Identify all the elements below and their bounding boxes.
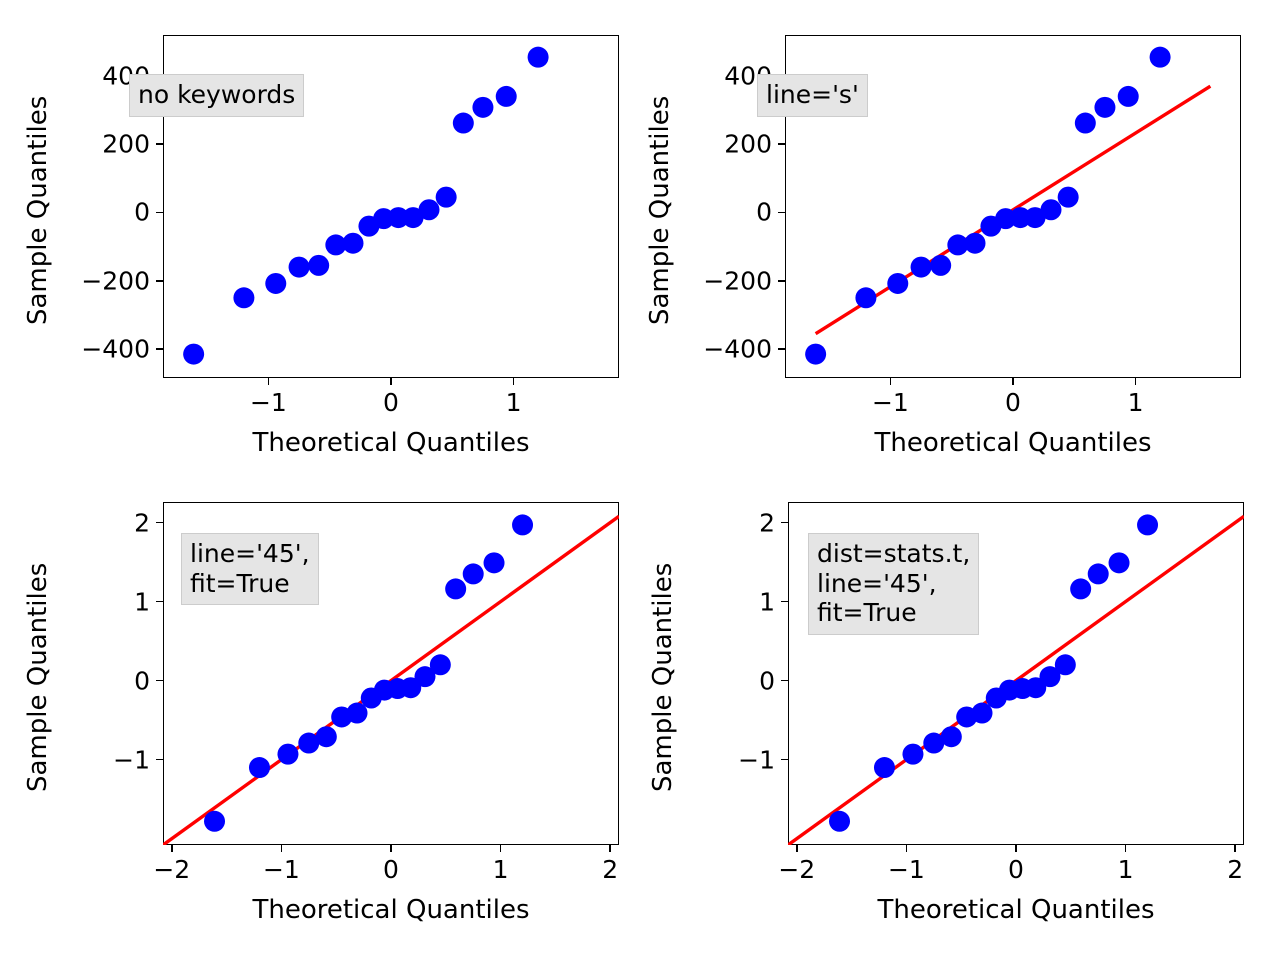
- y-tick-label: −1: [663, 747, 775, 772]
- y-tick-mark: [781, 680, 788, 682]
- x-axis-label: Theoretical Quantiles: [877, 895, 1154, 925]
- annotation-textbox: dist=stats.t, line='45', fit=True: [808, 533, 979, 635]
- data-point-marker: [1137, 514, 1158, 535]
- data-point-marker: [941, 726, 962, 747]
- x-tick-mark: [1234, 845, 1236, 852]
- data-point-marker: [1088, 563, 1109, 584]
- data-point-marker: [1109, 552, 1130, 573]
- x-tick-label: 0: [1008, 857, 1024, 882]
- x-tick-label: 1: [1118, 857, 1134, 882]
- plot-canvas: [0, 0, 1280, 960]
- data-point-marker: [1070, 578, 1091, 599]
- x-tick-label: −2: [778, 857, 815, 882]
- subplot-qqplot-dist-t-line45-fit: −1012−2−1012Theoretical QuantilesSample …: [0, 0, 1280, 960]
- y-tick-mark: [781, 522, 788, 524]
- x-tick-mark: [906, 845, 908, 852]
- y-tick-label: 0: [663, 668, 775, 693]
- data-point-marker: [1055, 654, 1076, 675]
- data-point-marker: [902, 744, 923, 765]
- y-tick-label: 1: [663, 589, 775, 614]
- x-tick-label: 2: [1227, 857, 1243, 882]
- y-tick-mark: [781, 759, 788, 761]
- x-tick-label: −1: [888, 857, 925, 882]
- data-point-marker: [874, 757, 895, 778]
- y-tick-label: 2: [663, 510, 775, 535]
- matplotlib-figure: −400−2000200400−101Theoretical Quantiles…: [0, 0, 1280, 960]
- y-tick-mark: [781, 601, 788, 603]
- y-axis-label: Sample Quantiles: [648, 562, 678, 791]
- data-point-marker: [829, 811, 850, 832]
- x-tick-mark: [1015, 845, 1017, 852]
- x-tick-mark: [1125, 845, 1127, 852]
- x-tick-mark: [796, 845, 798, 852]
